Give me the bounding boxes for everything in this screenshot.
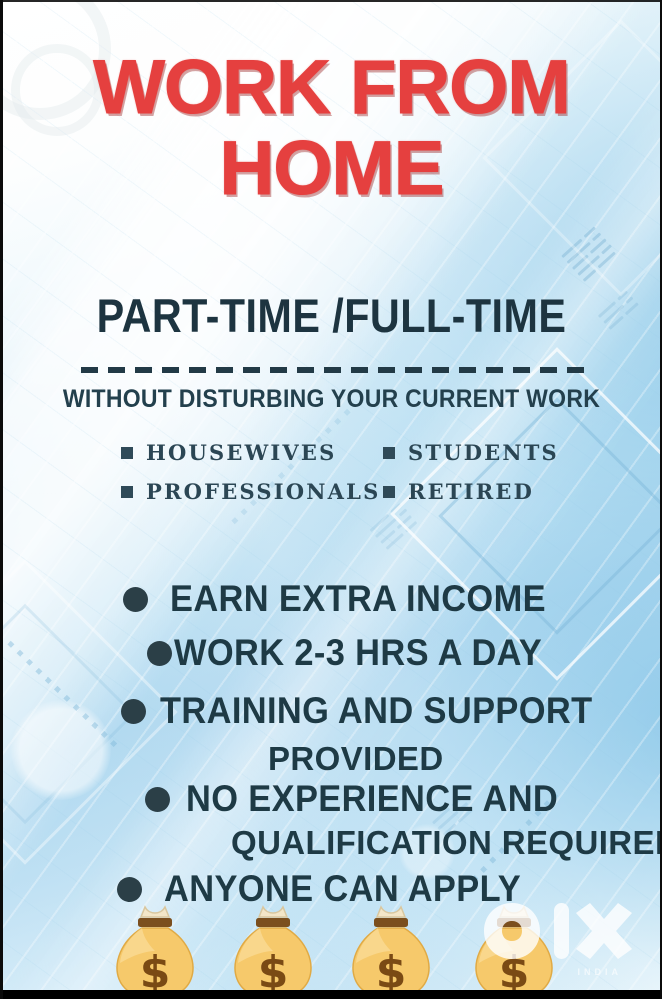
benefit-item-no-experience: NO EXPERIENCE AND [145, 778, 586, 820]
audience-item-retired: RETIRED [383, 479, 534, 504]
square-bullet-icon [383, 486, 395, 498]
benefit-continuation-qualification: QUALIFICATION REQUIRED [231, 824, 662, 862]
bullet-dot-icon [147, 641, 172, 666]
square-bullet-icon [383, 447, 395, 459]
benefit-continuation-label: QUALIFICATION REQUIRED [231, 824, 662, 861]
bottom-edge-bar [3, 990, 660, 999]
audience-label: HOUSEWIVES [146, 440, 337, 465]
money-bag-icon: $ [107, 901, 203, 999]
square-bullet-icon [121, 447, 133, 459]
benefit-label: NO EXPERIENCE AND [186, 778, 558, 820]
money-bag-icon: $ [225, 901, 321, 999]
audience-item-housewives: HOUSEWIVES [121, 440, 383, 465]
headline-line-1: WORK FROM [93, 45, 569, 130]
money-bag-icon: $ [343, 901, 439, 999]
audience-list: HOUSEWIVES STUDENTS PROFESSIONALS RETIRE… [121, 440, 591, 518]
subtitle-work-type: PART-TIME /FULL-TIME [42, 288, 620, 343]
olx-watermark-logo [478, 897, 638, 969]
benefit-item-training-and-support: TRAINING AND SUPPORT [121, 690, 625, 732]
audience-label: RETIRED [408, 479, 534, 504]
benefit-label: WORK 2-3 HRS A DAY [174, 632, 542, 674]
benefit-continuation-provided: PROVIDED [268, 740, 444, 778]
audience-row: HOUSEWIVES STUDENTS [121, 440, 591, 465]
audience-label: STUDENTS [408, 440, 559, 465]
page-title: WORK FROM HOME [3, 52, 660, 206]
audience-row: PROFESSIONALS RETIRED [121, 479, 591, 504]
dashed-divider [81, 367, 591, 373]
benefit-item-work-hours: WORK 2-3 HRS A DAY [147, 632, 570, 674]
audience-item-professionals: PROFESSIONALS [121, 479, 383, 504]
square-bullet-icon [121, 486, 133, 498]
olx-watermark-region: INDIA [578, 967, 623, 977]
bullet-dot-icon [123, 587, 148, 612]
subtitle-without-disturbing: WITHOUT DISTURBING YOUR CURRENT WORK [29, 385, 633, 414]
benefit-label: EARN EXTRA INCOME [170, 578, 546, 620]
bullet-dot-icon [145, 787, 170, 812]
audience-label: PROFESSIONALS [146, 479, 380, 504]
work-from-home-flyer: WORK FROM HOME PART-TIME /FULL-TIME WITH… [0, 0, 662, 999]
headline-line-2: HOME [3, 133, 660, 206]
benefit-label: TRAINING AND SUPPORT [160, 690, 592, 732]
audience-item-students: STUDENTS [383, 440, 559, 465]
benefit-continuation-label: PROVIDED [268, 740, 444, 777]
benefit-item-earn-extra-income: EARN EXTRA INCOME [123, 578, 574, 620]
bullet-dot-icon [121, 699, 146, 724]
top-edge-bar [3, 0, 660, 2]
